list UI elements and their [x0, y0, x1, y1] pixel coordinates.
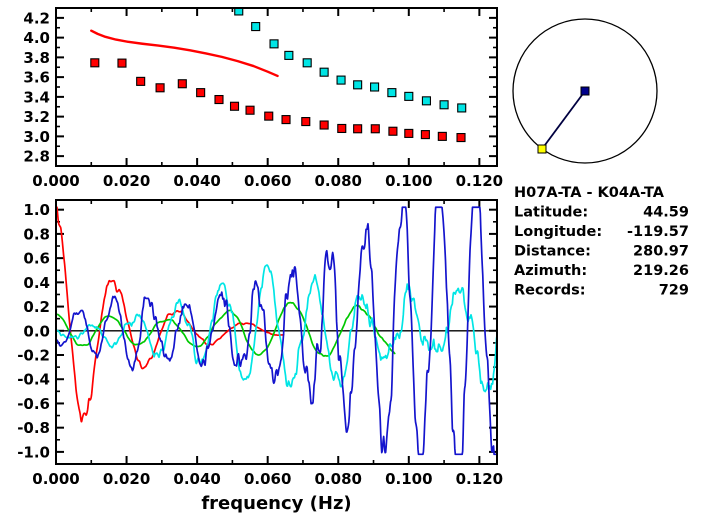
group-velocity-marker: [388, 89, 396, 97]
info-label-azimuth: Azimuth:: [514, 263, 587, 279]
phase-velocity-marker: [438, 132, 446, 140]
phase-velocity-marker: [178, 80, 186, 88]
y-tick-label: -0.8: [17, 419, 50, 437]
trace-red: [56, 207, 284, 421]
group-velocity-marker: [422, 97, 430, 105]
group-velocity-marker: [354, 81, 362, 89]
y-tick-label: 4.0: [23, 29, 50, 47]
group-velocity-marker: [440, 101, 448, 109]
info-value-longitude: -119.57: [627, 224, 689, 240]
station-pair-title: H07A-TA - K04A-TA: [514, 185, 665, 201]
y-tick-label: 0.0: [23, 322, 50, 340]
y-tick-label: 3.6: [23, 69, 50, 87]
dispersion-plot-axes-frame: [56, 8, 497, 166]
dispersion-plot-axes: 0.0000.0200.0400.0600.0800.1000.1202.83.…: [23, 8, 503, 190]
group-velocity-marker: [405, 92, 413, 100]
group-velocity-marker: [337, 76, 345, 84]
x-tick-label: 0.120: [456, 470, 503, 488]
phase-velocity-marker: [421, 131, 429, 139]
x-tick-label: 0.080: [315, 470, 362, 488]
station-marker: [581, 87, 589, 95]
figure-svg: 0.0000.0200.0400.0600.0800.1000.1202.83.…: [0, 0, 704, 519]
phase-velocity-marker: [371, 125, 379, 133]
phase-velocity-marker: [118, 59, 126, 67]
info-value-latitude: 44.59: [643, 205, 689, 221]
x-axis-title: frequency (Hz): [201, 493, 351, 514]
y-tick-label: 4.2: [23, 9, 50, 27]
phase-velocity-marker: [91, 59, 99, 67]
phase-velocity-marker: [137, 77, 145, 85]
x-tick-label: 0.040: [173, 172, 220, 190]
group-velocity-marker: [371, 83, 379, 91]
y-tick-label: 0.8: [23, 225, 50, 243]
y-tick-label: -0.4: [17, 371, 50, 389]
y-tick-label: -0.2: [17, 347, 50, 365]
x-tick-label: 0.060: [244, 172, 291, 190]
phase-velocity-marker: [354, 125, 362, 133]
azimuth-map: [513, 19, 657, 163]
phase-velocity-marker: [338, 124, 346, 132]
phase-velocity-marker: [457, 134, 465, 142]
x-tick-label: 0.020: [103, 470, 150, 488]
info-value-azimuth: 219.26: [633, 263, 689, 279]
group-velocity-marker: [270, 40, 278, 48]
y-tick-label: -1.0: [17, 443, 50, 461]
phase-velocity-marker: [156, 84, 164, 92]
phase-velocity-marker: [405, 129, 413, 137]
group-velocity-marker: [285, 51, 293, 59]
phase-velocity-marker: [265, 112, 273, 120]
x-tick-label: 0.080: [315, 172, 362, 190]
spectra-data-layer: [56, 207, 497, 454]
phase-velocity-marker: [231, 102, 239, 110]
trace-green: [56, 303, 395, 356]
x-tick-label: 0.100: [385, 470, 432, 488]
y-tick-label: -0.6: [17, 395, 50, 413]
phase-velocity-marker: [197, 89, 205, 97]
phase-velocity-marker: [320, 121, 328, 129]
x-tick-label: 0.040: [173, 470, 220, 488]
y-tick-label: 3.4: [23, 88, 50, 106]
y-tick-label: 2.8: [23, 148, 50, 166]
phase-velocity-marker: [302, 118, 310, 126]
x-tick-label: 0.000: [32, 470, 79, 488]
phase-velocity-marker: [246, 106, 254, 114]
figure-canvas: 0.0000.0200.0400.0600.0800.1000.1202.83.…: [0, 0, 704, 519]
x-tick-label: 0.000: [32, 172, 79, 190]
x-tick-label: 0.120: [456, 172, 503, 190]
y-tick-label: 3.0: [23, 128, 50, 146]
y-tick-label: 0.2: [23, 298, 50, 316]
y-tick-label: 1.0: [23, 201, 50, 219]
info-panel: H07A-TA - K04A-TALatitude:44.59Longitude…: [514, 185, 689, 299]
info-value-records: 729: [659, 283, 689, 299]
phase-velocity-marker: [389, 127, 397, 135]
x-tick-label: 0.100: [385, 172, 432, 190]
group-velocity-marker: [303, 59, 311, 67]
y-tick-label: 3.2: [23, 108, 50, 126]
y-tick-label: 3.8: [23, 49, 50, 67]
group-velocity-marker: [252, 23, 260, 31]
group-velocity-marker: [320, 68, 328, 76]
group-velocity-marker: [458, 104, 466, 112]
info-label-records: Records:: [514, 283, 586, 299]
info-label-distance: Distance:: [514, 244, 591, 260]
event-marker: [538, 145, 546, 153]
info-value-distance: 280.97: [633, 244, 689, 260]
info-label-latitude: Latitude:: [514, 205, 588, 221]
y-tick-label: 0.6: [23, 250, 50, 268]
x-tick-label: 0.020: [103, 172, 150, 190]
dispersion-data-layer: [91, 7, 466, 142]
phase-velocity-marker: [215, 96, 223, 104]
info-label-longitude: Longitude:: [514, 224, 602, 240]
y-tick-label: 0.4: [23, 274, 50, 292]
model-curve: [91, 31, 277, 76]
phase-velocity-marker: [282, 116, 290, 124]
x-tick-label: 0.060: [244, 470, 291, 488]
